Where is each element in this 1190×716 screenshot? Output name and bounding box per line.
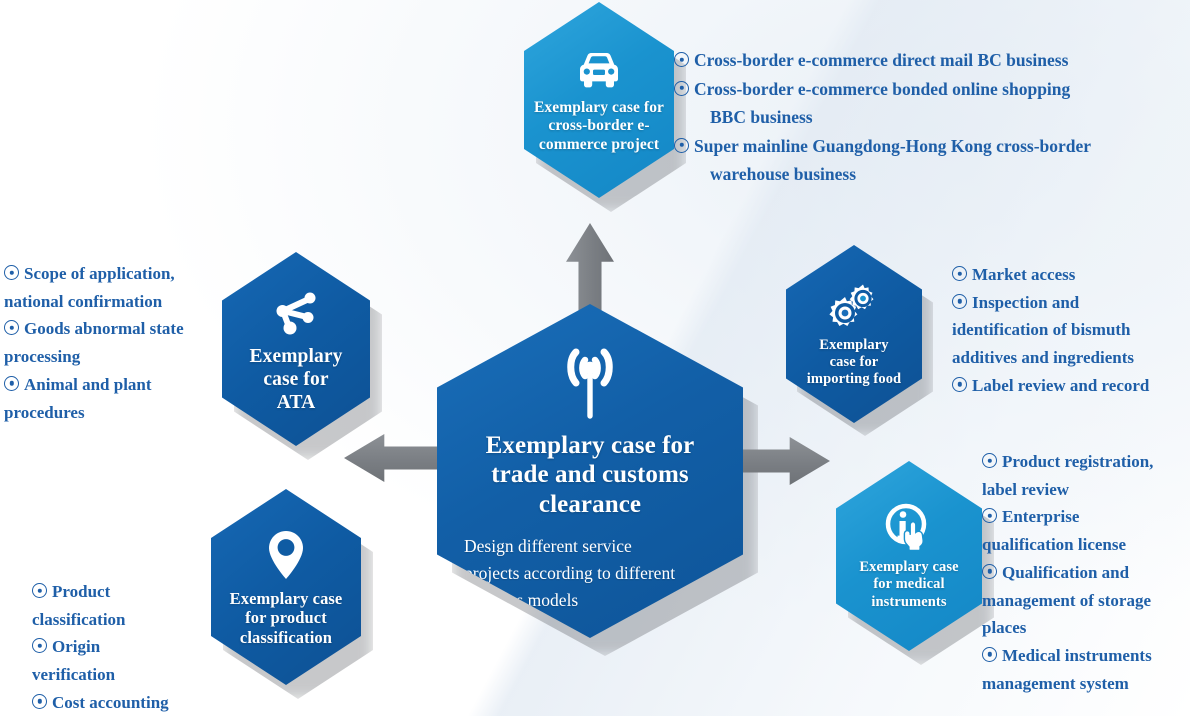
list-item-label: management of storage: [982, 591, 1151, 610]
bullet-icon: [4, 320, 19, 335]
list-item-label: places: [982, 618, 1026, 637]
list-item-label: Medical instruments: [1002, 646, 1152, 665]
center-subtitle-line: Design different service: [464, 533, 716, 560]
list-item-label: management system: [982, 674, 1129, 693]
list-item-label: Scope of application,: [24, 264, 175, 283]
center-title-line: trade and customs: [486, 460, 695, 490]
list-item-label: national confirmation: [4, 292, 162, 311]
list-item-continuation: warehouse business: [674, 160, 1091, 189]
node-title-line: case for: [250, 368, 343, 391]
list-item-label: Goods abnormal state: [24, 319, 184, 338]
list-item-continuation: management system: [982, 670, 1153, 698]
list-item-label: procedures: [4, 403, 85, 422]
list-item-label: Animal and plant: [24, 375, 152, 394]
list-item-label: additives and ingredients: [952, 348, 1134, 367]
list-item-label: processing: [4, 347, 80, 366]
list-item: Goods abnormal state: [4, 315, 184, 343]
bullet-list-product-classification: Product classification Origin verificati…: [32, 578, 169, 716]
list-item-label: Inspection and: [972, 293, 1079, 312]
list-item-label: identification of bismuth: [952, 320, 1131, 339]
list-item: Animal and plant: [4, 371, 184, 399]
list-item-label: Enterprise: [1002, 507, 1079, 526]
bullet-icon: [952, 266, 967, 281]
bullet-icon: [4, 265, 19, 280]
list-item: Cross-border e-commerce direct mail BC b…: [674, 46, 1091, 75]
bullet-icon: [982, 564, 997, 579]
list-item-label: qualification license: [982, 535, 1126, 554]
bullet-icon: [32, 694, 47, 709]
info-hand-pointer-icon: [883, 503, 935, 556]
list-item: Product registration,: [982, 448, 1153, 476]
list-item: Super mainline Guangdong-Hong Kong cross…: [674, 132, 1091, 161]
bullet-icon: [32, 583, 47, 598]
bullet-list-importing-food: Market access Inspection and identificat…: [952, 261, 1149, 400]
list-item-label: Qualification and: [1002, 563, 1129, 582]
list-item: Cost accounting: [32, 689, 169, 716]
list-item-continuation: identification of bismuth: [952, 316, 1149, 344]
list-item-continuation: qualification license: [982, 531, 1153, 559]
bullet-icon: [982, 508, 997, 523]
list-item-continuation: label review: [982, 476, 1153, 504]
map-pin-icon: [266, 529, 306, 586]
node-title-line: instruments: [859, 594, 958, 611]
list-item: Enterprise: [982, 503, 1153, 531]
list-item-label: verification: [32, 665, 115, 684]
list-item: Medical instruments: [982, 642, 1153, 670]
list-item-label: Market access: [972, 265, 1075, 284]
diagram-canvas: Exemplary case for cross-border e- comme…: [0, 0, 1190, 716]
node-title-line: Exemplary: [807, 337, 901, 354]
center-title-line: clearance: [486, 490, 695, 520]
list-item-continuation: verification: [32, 661, 169, 689]
list-item-label: Product registration,: [1002, 452, 1153, 471]
bullet-list-ata: Scope of application, national confirmat…: [4, 260, 184, 426]
gears-icon: [826, 282, 882, 335]
bullet-icon: [32, 638, 47, 653]
share-nodes-icon: [269, 288, 323, 341]
bullet-list-cross-border-ecommerce: Cross-border e-commerce direct mail BC b…: [674, 46, 1091, 189]
arrow-left-icon: [344, 434, 440, 482]
node-title-line: for medical: [859, 576, 958, 593]
car-front-icon: [573, 50, 625, 97]
list-item: Scope of application,: [4, 260, 184, 288]
list-item-continuation: processing: [4, 343, 184, 371]
list-item: Origin: [32, 633, 169, 661]
list-item: Qualification and: [982, 559, 1153, 587]
node-title-line: classification: [230, 628, 343, 647]
list-item-continuation: additives and ingredients: [952, 344, 1149, 372]
list-item-continuation: places: [982, 614, 1153, 642]
list-item-label: Cost accounting: [52, 693, 169, 712]
list-item: Product: [32, 578, 169, 606]
list-item-label: label review: [982, 480, 1069, 499]
center-subtitle-line: projects according to different: [464, 560, 716, 587]
bullet-icon: [4, 376, 19, 391]
bullet-icon: [674, 52, 689, 67]
list-item-label: Cross-border e-commerce bonded online sh…: [694, 79, 1070, 99]
list-item-label: BBC business: [710, 107, 813, 127]
bullet-icon: [982, 647, 997, 662]
node-title-line: commerce project: [534, 136, 664, 154]
node-title-line: Exemplary case for: [534, 99, 664, 117]
list-item-continuation: BBC business: [674, 103, 1091, 132]
list-item-label: Cross-border e-commerce direct mail BC b…: [694, 50, 1068, 70]
list-item-label: Origin: [52, 637, 100, 656]
list-item-continuation: national confirmation: [4, 288, 184, 316]
list-item: Inspection and: [952, 289, 1149, 317]
list-item-continuation: management of storage: [982, 587, 1153, 615]
list-item: Label review and record: [952, 372, 1149, 400]
node-title-line: Exemplary case: [230, 589, 343, 608]
node-title-line: Exemplary case: [859, 559, 958, 576]
bullet-list-medical-instruments: Product registration, label review Enter…: [982, 448, 1153, 697]
node-title-line: ATA: [250, 391, 343, 414]
list-item-label: Label review and record: [972, 376, 1149, 395]
list-item-continuation: procedures: [4, 399, 184, 427]
bullet-icon: [674, 81, 689, 96]
node-title-line: case for: [807, 354, 901, 371]
bullet-icon: [952, 294, 967, 309]
list-item: Market access: [952, 261, 1149, 289]
list-item: Cross-border e-commerce bonded online sh…: [674, 75, 1091, 104]
list-item-label: warehouse business: [710, 164, 856, 184]
bullet-icon: [674, 138, 689, 153]
center-title-line: Exemplary case for: [486, 431, 695, 461]
node-title-line: for product: [230, 608, 343, 627]
list-item-label: Super mainline Guangdong-Hong Kong cross…: [694, 136, 1091, 156]
list-item-label: classification: [32, 610, 126, 629]
node-title-line: importing food: [807, 371, 901, 388]
node-title-line: cross-border e-: [534, 117, 664, 135]
bullet-icon: [952, 377, 967, 392]
bullet-icon: [982, 453, 997, 468]
list-item-continuation: classification: [32, 606, 169, 634]
node-title-line: Exemplary: [250, 345, 343, 368]
wifi-antenna-icon: [546, 338, 634, 425]
list-item-label: Product: [52, 582, 110, 601]
